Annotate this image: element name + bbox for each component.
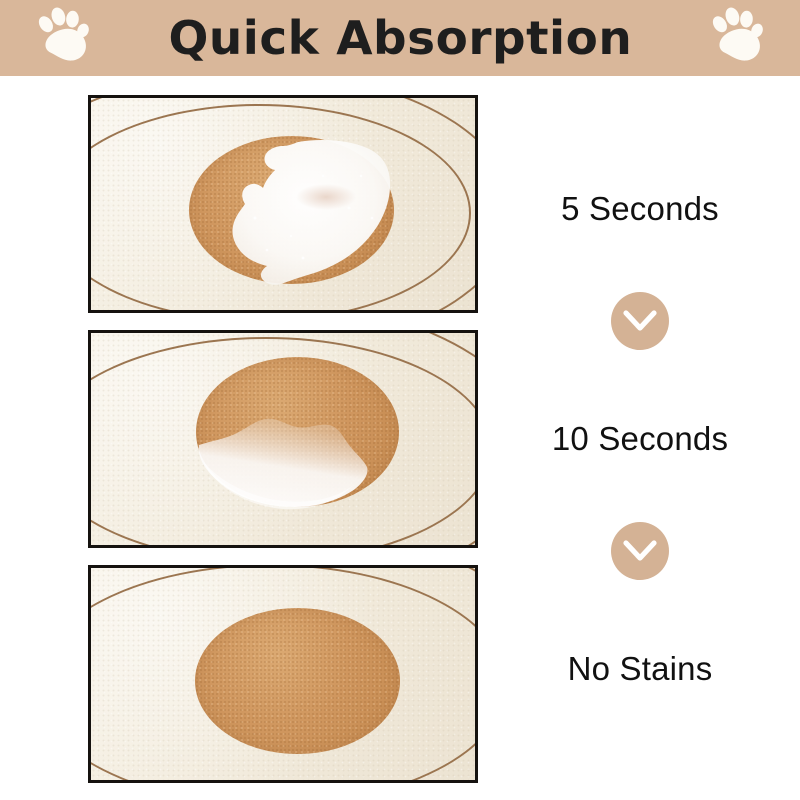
absorbent-oval-patch xyxy=(195,608,400,754)
milk-residue-overlay xyxy=(91,333,478,548)
chevron-down-icon xyxy=(611,292,669,350)
header-banner: Quick Absorption xyxy=(0,0,800,76)
step-label-no-stains: No Stains xyxy=(490,650,790,688)
paw-print-icon xyxy=(34,6,92,73)
chevron-down-icon xyxy=(611,522,669,580)
page-title: Quick Absorption xyxy=(168,15,632,61)
step-labels-column: 5 Seconds 10 Seconds No Stains xyxy=(490,95,790,785)
absorption-photo-10-seconds xyxy=(88,330,478,548)
step-label-10-seconds: 10 Seconds xyxy=(490,420,790,458)
step-label-5-seconds: 5 Seconds xyxy=(490,190,790,228)
absorption-photo-5-seconds xyxy=(88,95,478,313)
milk-spill-overlay xyxy=(91,98,478,313)
absorption-photo-no-stains xyxy=(88,565,478,783)
absorption-photo-column xyxy=(88,95,478,783)
paw-print-icon xyxy=(708,6,766,73)
